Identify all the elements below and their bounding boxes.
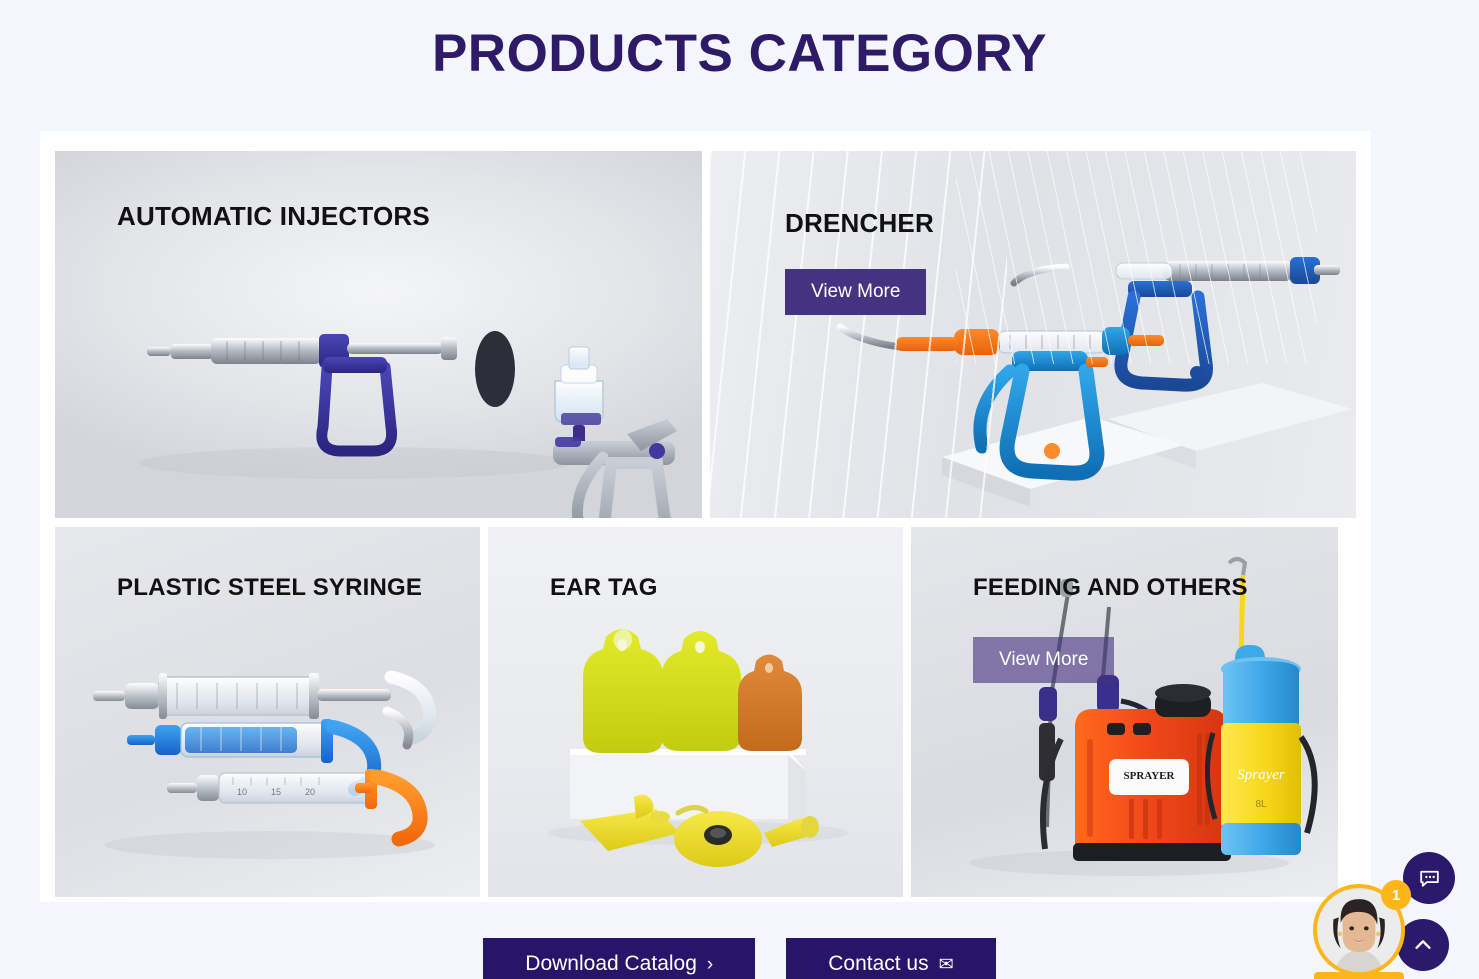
spray-lines	[956, 151, 1318, 364]
category-card-feeding-and-others[interactable]: SPRAYER	[911, 527, 1338, 897]
sprayer-blue-label: Sprayer	[1237, 767, 1285, 783]
category-card-drencher[interactable]: DRENCHER View More	[710, 151, 1356, 518]
svg-text:15: 15	[271, 787, 281, 797]
svg-text:10: 10	[237, 787, 247, 797]
svg-text:20: 20	[305, 787, 315, 797]
chevron-right-icon: ›	[707, 955, 713, 974]
download-catalog-label: Download Catalog	[525, 952, 697, 976]
contact-us-button[interactable]: Contact us ✉	[786, 938, 995, 979]
category-row-2: 101520 PLASTIC STEEL SYRINGE	[55, 527, 1356, 897]
view-more-button-feeding-and-others[interactable]: View More	[973, 637, 1114, 683]
chat-bubble-icon	[1417, 866, 1442, 891]
chevron-up-icon	[1412, 934, 1434, 956]
view-more-button-drencher[interactable]: View More	[785, 269, 926, 315]
category-title: AUTOMATIC INJECTORS	[117, 201, 430, 232]
category-card-ear-tag[interactable]: EAR TAG	[488, 527, 903, 897]
category-row-1: AUTOMATIC INJECTORS	[55, 151, 1356, 518]
ask-me-label: ASK ME	[1314, 972, 1404, 979]
page-title: PRODUCTS CATEGORY	[0, 0, 1479, 83]
action-buttons: Download Catalog › Contact us ✉	[0, 938, 1479, 979]
unread-badge: 1	[1381, 880, 1411, 910]
download-catalog-button[interactable]: Download Catalog ›	[483, 938, 755, 979]
contact-us-label: Contact us	[828, 952, 928, 976]
category-title: PLASTIC STEEL SYRINGE	[117, 574, 422, 602]
sprayer-volume-label: 8L	[1255, 799, 1267, 810]
category-title: FEEDING AND OTHERS	[973, 574, 1248, 602]
category-title: EAR TAG	[550, 574, 658, 602]
categories-grid: AUTOMATIC INJECTORS	[55, 151, 1356, 897]
ask-me-widget[interactable]: 1 ASK ME	[1313, 884, 1405, 976]
category-title: DRENCHER	[785, 208, 934, 239]
product-photo-drencher	[710, 151, 1356, 518]
category-card-automatic-injectors[interactable]: AUTOMATIC INJECTORS	[55, 151, 702, 518]
envelope-icon: ✉	[939, 955, 954, 973]
category-card-plastic-steel-syringe[interactable]: 101520 PLASTIC STEEL SYRINGE	[55, 527, 480, 897]
sprayer-tank-label: SPRAYER	[1124, 770, 1176, 782]
